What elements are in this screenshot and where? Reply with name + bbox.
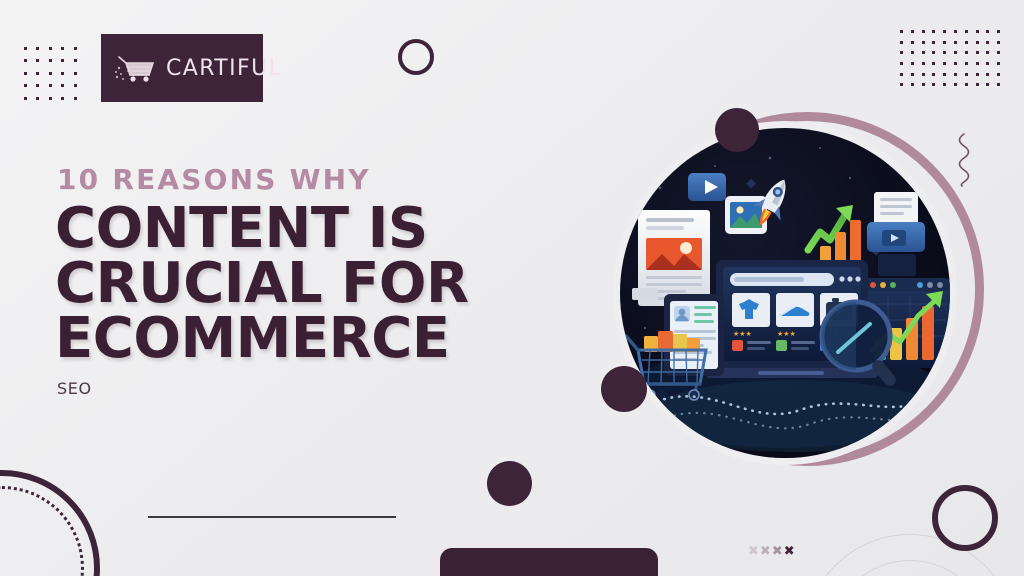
cross-icon-4: ✖ [784,545,795,558]
page-title-line-2: CRUCIAL FOR [55,257,575,312]
solid-dot-upper-ring [715,108,759,152]
horizontal-rule [148,516,396,518]
dot-grid-top-left [24,47,86,109]
page-title-line-3: ECOMMERCE [55,312,575,367]
poster-canvas: ✖ ✖ ✖ ✖ [0,0,1024,576]
page-title: CONTENT IS CRUCIAL FOR ECOMMERCE [55,202,575,367]
shopping-cart-icon [113,51,159,85]
cross-icon-2: ✖ [760,545,771,558]
dot-grid-top-right [900,30,1008,94]
subtitle-text: SEO [57,379,92,398]
ring-outline-bottom-right [932,485,998,551]
squiggle-icon [955,133,973,187]
svg-text:★★★: ★★★ [777,330,796,338]
cross-icon-1: ✖ [748,545,759,558]
cross-icon-3: ✖ [772,545,783,558]
ring-outline-top [398,39,434,75]
brand-logo-text: CARTIFUL [166,56,282,81]
brand-logo[interactable]: CARTIFUL [101,34,263,102]
solid-dot-left-ring [601,366,647,412]
solid-dot-bottom-center [487,461,532,506]
hero-illustration: ★★★ ★★★ ★★★ [620,128,950,458]
page-title-line-1: CONTENT IS [55,202,575,257]
eyebrow-text: 10 REASONS WHY [57,163,371,196]
svg-text:★★★: ★★★ [733,330,752,338]
bottom-rounded-bar [440,548,658,576]
cross-marks-decoration: ✖ ✖ ✖ ✖ [748,545,795,558]
